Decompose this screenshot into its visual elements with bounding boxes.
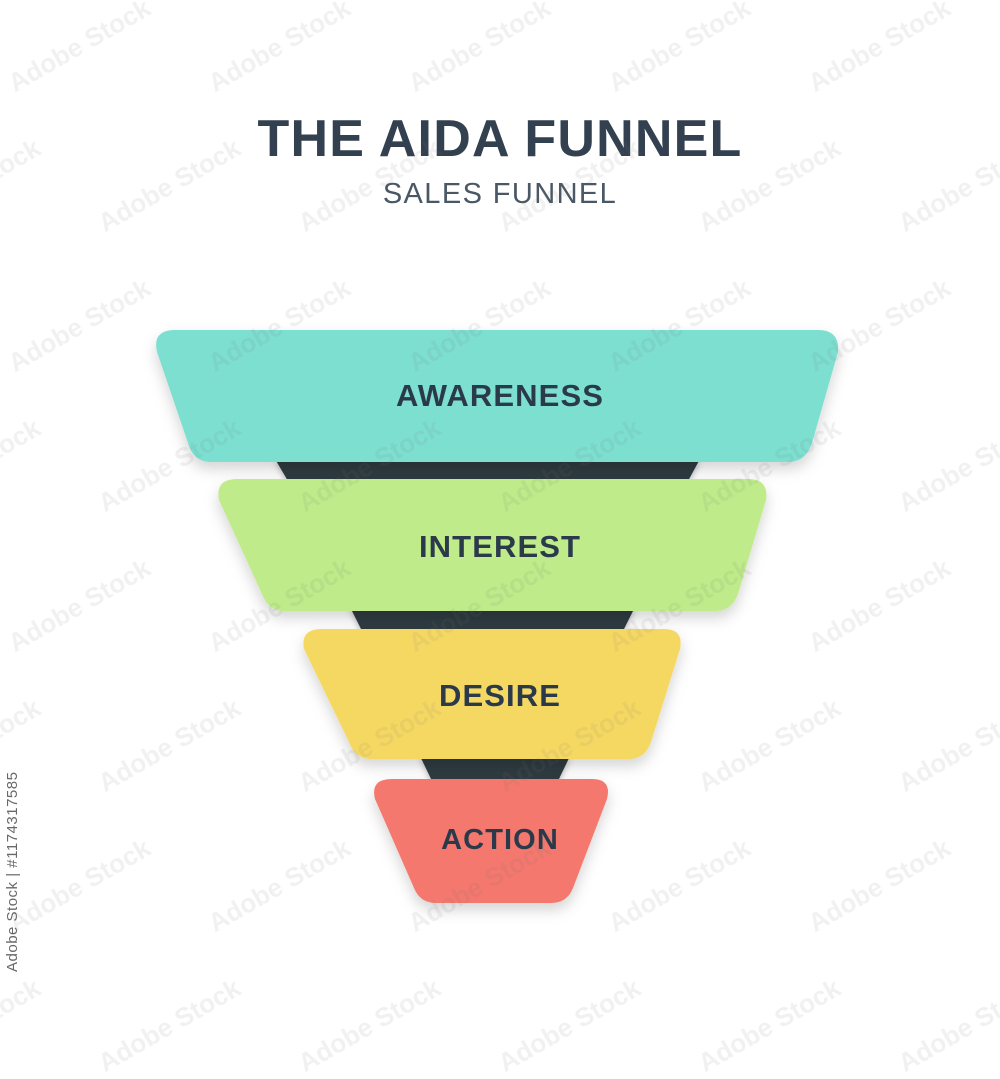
funnel-stage-desire[interactable]: [303, 629, 680, 759]
funnel-diagram: AWARENESS INTEREST DESIRE ACTION: [0, 0, 1000, 1000]
poster-canvas: THE AIDA FUNNEL SALES FUNNEL: [0, 0, 1000, 1000]
funnel-stage-awareness[interactable]: [156, 330, 838, 462]
funnel-stage-interest[interactable]: [218, 479, 766, 611]
watermark-side-label: Adobe Stock | #1174317585: [4, 772, 21, 972]
funnel-stage-action[interactable]: [374, 779, 608, 903]
funnel-connector-1: [275, 459, 700, 481]
funnel-connector-3: [420, 756, 570, 781]
